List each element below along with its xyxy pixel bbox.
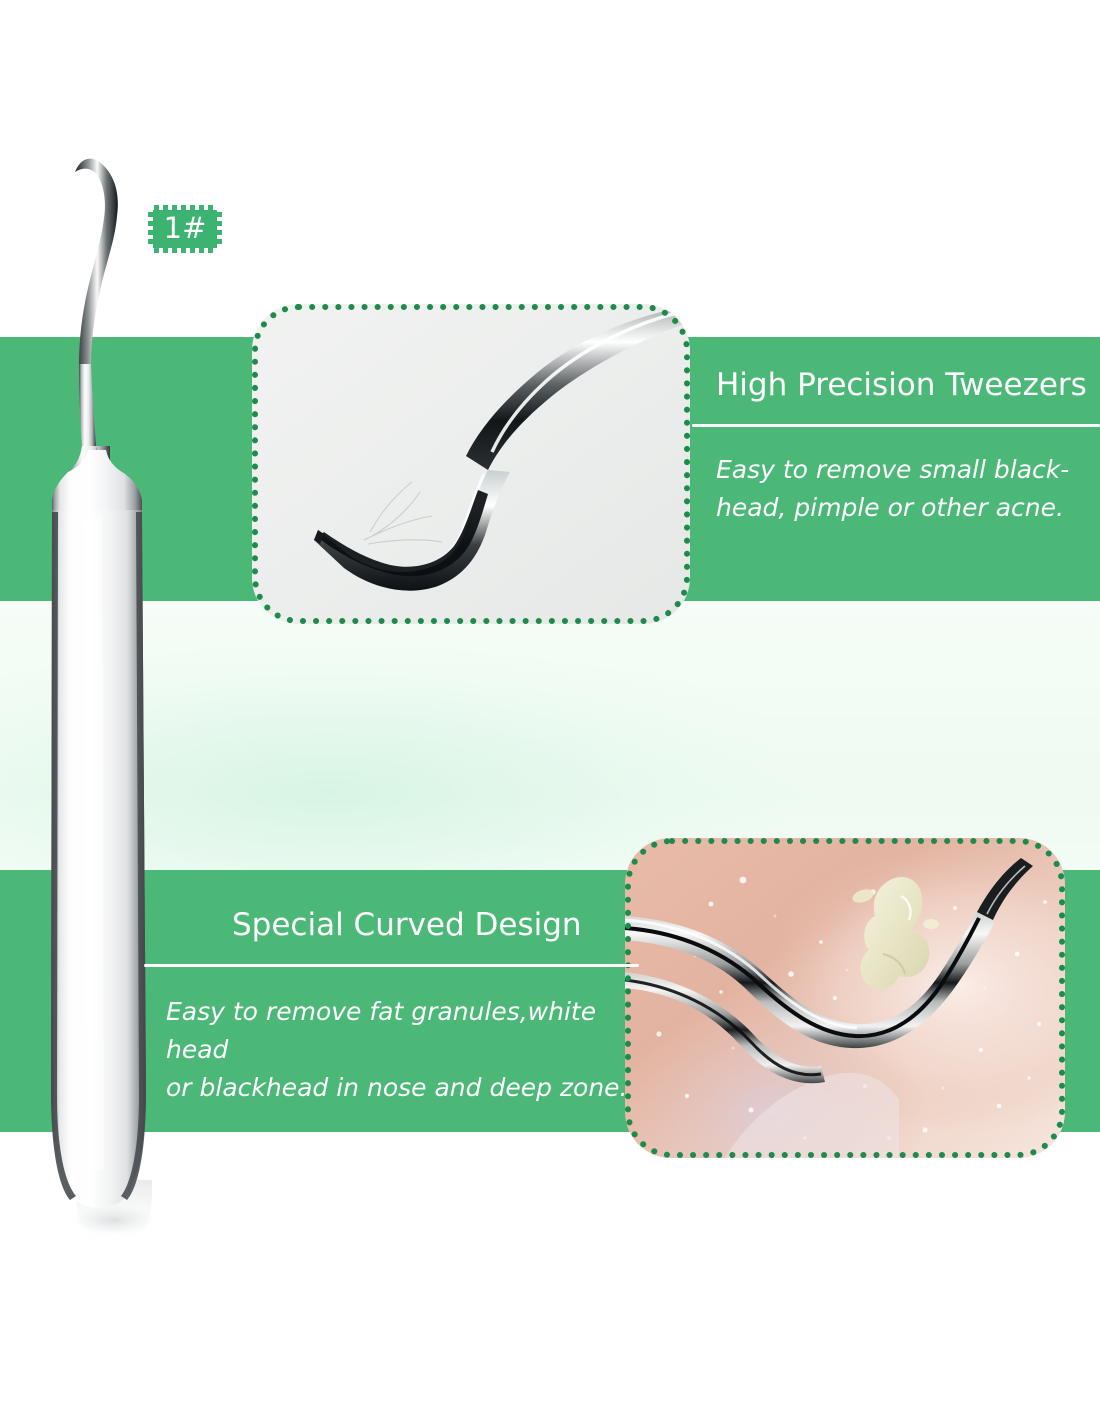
feature-title-high-precision: High Precision Tweezers — [692, 368, 1100, 402]
tweezer-tip-closeup-photo — [252, 304, 690, 624]
feature-description-line: head, pimple or other acne. — [716, 489, 1072, 527]
feature-description-line: Easy to remove small black- — [716, 451, 1072, 489]
feature-block-high-precision: High Precision Tweezers Easy to remove s… — [692, 368, 1100, 527]
feature-block-curved-design: Special Curved Design Easy to remove fat… — [152, 908, 632, 1107]
variant-number-label: 1# — [148, 205, 222, 253]
feature-description-line: or blackhead in nose and deep zone. — [166, 1069, 652, 1107]
feature-divider-two — [144, 964, 639, 967]
feature-description-line: Easy to remove fat granules,white head — [166, 993, 652, 1069]
feature-photo-card-high-precision — [252, 304, 690, 624]
feature-photo-card-curved-design — [625, 838, 1065, 1158]
extraction-on-skin-photo — [625, 838, 1065, 1158]
variant-number-badge: 1# — [148, 205, 222, 253]
feature-description-high-precision: Easy to remove small black- head, pimple… — [692, 451, 1072, 527]
feature-title-curved-design: Special Curved Design — [152, 908, 632, 942]
feature-description-curved-design: Easy to remove fat granules,white head o… — [152, 993, 652, 1107]
product-infographic-page: 1# — [0, 0, 1100, 1422]
feature-divider-one — [692, 424, 1100, 427]
